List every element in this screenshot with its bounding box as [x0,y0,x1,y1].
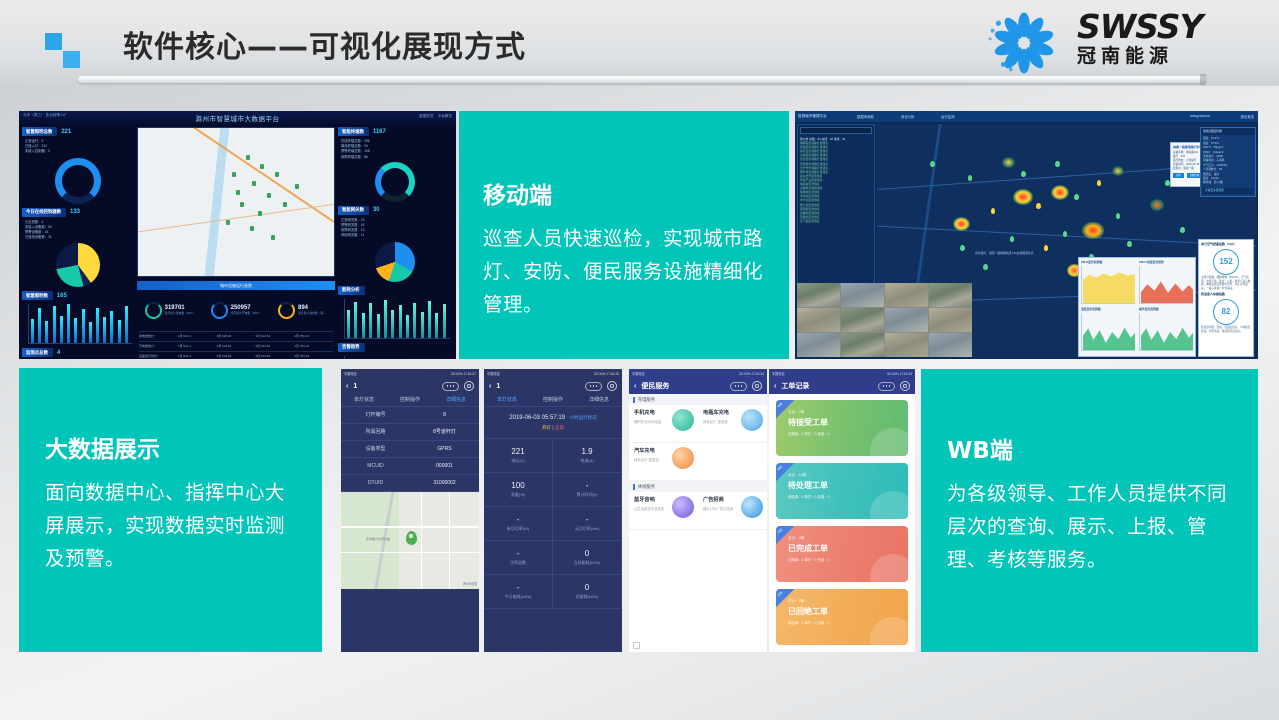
card-lines: 正常网关数：23 预警网关数：43 故障网关数：13 停用网关数：11 [341,218,452,239]
card-subtitle: 总计：3单 [788,410,908,415]
comfort-title: 舒适度人体感指数 [1201,292,1251,296]
card-subtitle: 总计：10单 [788,473,908,478]
card-corner-tag: 待处 [776,465,783,472]
dashboard-card: 智能终端数 1167 在线终端总数：256 离线终端总数：94 预警终端总数：1… [338,127,452,202]
dashboard-card: 告警趋势 [338,343,452,359]
header-accent-square-top [45,33,62,50]
state-divider: | [552,425,553,430]
service-item[interactable]: 蓝牙音响 让生活更加丰富多彩 [629,492,698,530]
card-line: 未接入控制器：2 [25,149,134,154]
tab-details[interactable]: 详细信息 [576,394,622,406]
card-value: 165 [57,293,67,299]
card-subtitle: 总计：3单 [788,536,908,541]
card-label: 智能网关数 [338,206,369,215]
service-item[interactable]: 汽车充电 绿色出行 更省钱 [629,443,698,481]
tab-lamp-status[interactable]: 单灯状态 [484,394,530,406]
service-grid-leisure: 蓝牙音响 让生活更加丰富多彩 广告招商 路灯LED广告位招商 [629,492,767,530]
metric-cell: - 累计时间(h) [553,473,622,507]
gis-nav-item[interactable]: 综合分析 [901,114,915,119]
ebike-charge-icon [741,409,763,431]
camera-thumbnail[interactable] [929,333,972,357]
work-order-card-pending-accept[interactable]: 待接 总计：3单 待接受工单 过期单：0 单打：0 进度：0 [776,400,908,456]
card-label: 智慧照明总数 [22,127,57,136]
dashboard-left-column: 智慧照明总数 221 正常运行：9 已接入灯：212 未接入控制器：2 今日在线… [22,127,134,357]
gis-logout[interactable]: 退出登录 [1240,114,1254,119]
gis-user[interactable]: wangxiaohua [1190,114,1210,118]
page-header: 软件核心——可视化展现方式 SWSSY [0,0,1279,86]
phone-title: 1 [353,383,357,390]
dashboard-card: 能耗分析 [338,286,452,339]
dashboard-hud: 数据总览 平台概览 [419,114,452,119]
panel-mobile: 移动端 巡查人员快速巡检，实现城市路灯、安防、便民服务设施精细化管理。 [459,111,789,359]
stat-caption: 当月累计减排量（吨） [298,311,326,315]
carrier-label: 中国电信 [772,371,785,376]
service-item[interactable]: 手机充电 随时补充手机电量 [629,405,698,443]
card-lines: 已点亮数：4 未接入设备数：54 预警设备数：44 已接线设备数：31 [25,220,134,241]
phone-navbar: ‹ 1 [341,378,479,394]
card-title: 待处理工单 [788,480,908,491]
panel-mobile-body: 巡查人员快速巡检，实现城市路灯、安防、便民服务设施精细化管理。 [483,222,765,321]
phone-title: 便民服务 [641,381,669,391]
work-order-card-rejected[interactable]: 已拒 总计：3单 已回绝工单 待结单：0 单打：0 延期：0 [776,589,908,645]
phone-title: 1 [496,383,500,390]
hud-left-label[interactable]: 数据总览 [419,114,433,118]
phone-tabs: 单灯状态 控制操作 详细信息 [341,394,479,407]
card-lines: 正常运行：9 已接入灯：212 未接入控制器：2 [25,139,134,155]
area-chart [344,356,450,359]
ring-icon [211,302,228,319]
bigdata-dashboard-screenshot[interactable]: 滁州市智慧城市大数据平台 今天（周三） 多云转晴 14° 数据总览 平台概览 智… [19,111,456,359]
bar-chart [344,299,450,339]
gis-nav-item[interactable]: 数据驾驶舱 [857,114,874,119]
timestamp-action-link[interactable]: 小时运行状况 [570,415,597,420]
table-row: 用电量统计： 1月 612.3 2月 523.44 3月 612.62 4月 7… [139,331,333,341]
camera-thumbnail[interactable] [841,333,884,357]
card-label: 智慧照明数 [22,291,53,300]
more-menu-icon[interactable] [878,382,895,391]
camera-thumbnail[interactable] [841,308,884,332]
bar-chart [28,304,132,344]
phone-status-bar: 中国电信 5G 54% 17:54:34 [629,369,767,378]
card-corner-tag: 已拒 [776,591,783,598]
panel-web: WB端 为各级领导、工作人员提供不同层次的查询、展示、上报、管理、考核等服务。 [921,369,1258,652]
card-lines: 在线终端总数：256 离线终端总数：94 预警终端总数：108 故障终端总数：8… [341,139,452,160]
back-icon[interactable]: ‹ [489,383,491,390]
card-label: 监测点总数 [22,348,53,357]
tab-control[interactable]: 控制操作 [387,394,433,406]
work-order-list: 待接 总计：3单 待接受工单 过期单：0 单打：0 进度：0 待处 总计：10单… [769,394,915,651]
camera-thumbnail[interactable] [885,333,928,357]
metric-cell: 0 总能耗(kWh) [553,575,622,609]
home-indicator-icon [633,642,640,649]
camera-thumbnail-grid[interactable] [797,283,972,357]
dashboard-right-column: 智能终端数 1167 在线终端总数：256 离线终端总数：94 预警终端总数：1… [338,127,452,357]
section-header-leisure: 休闲服务 [629,481,767,492]
gis-platform-screenshot[interactable]: 智慧城市管理平台 数据驾驶舱 综合分析 运行监测 wangxiaohua 退出登… [795,111,1258,359]
more-menu-icon[interactable] [730,382,747,391]
dashboard-weather: 今天（周三） 多云转晴 14° [23,113,66,118]
carrier-label: 中国电信 [632,371,645,376]
logo-en-text: SWSSY [1077,10,1202,44]
metric-cell: - 今日能耗(kWh) [484,575,553,609]
phone-status-bar: 中国电信 5G 54% 17:54:37 [341,369,479,378]
dashboard-center-column: 城市设施运行态势 319701 当月累计用电量（kWh） 250957 当月累计… [137,127,335,357]
table-row: 节电量统计： 1月 612.3 2月 523.44 3月 612.62 4月 7… [139,341,333,351]
chart-title: PM10变化趋势图 [1081,260,1135,264]
status-right: 5G 54% 17:54:34 [887,372,912,376]
close-circle-icon[interactable] [464,381,474,391]
service-item-empty [698,443,767,481]
chart-title: 温度变化趋势图 [1081,307,1135,311]
service-grid-charging: 手机充电 随时补充手机电量 电瓶车充电 绿色出行 更省钱 汽车充电 绿色出行 更… [629,405,767,481]
camera-thumbnail[interactable] [797,283,840,307]
camera-thumbnail[interactable] [929,308,972,332]
card-value: 4 [57,350,60,356]
logo-cn-text: 冠南能源 [1077,44,1202,68]
more-menu-icon[interactable] [442,382,459,391]
stat-item: 894 当月累计减排量（吨） [269,293,335,327]
table-row: 所属回路 8号道杆灯 [341,424,479,441]
aqi-gauge: 152 [1213,249,1239,275]
card-value: 1167 [373,129,386,135]
gis-navbar: 智慧城市管理平台 数据驾驶舱 综合分析 运行监测 wangxiaohua 退出登… [795,111,1258,122]
status-right: 5G 54% 17:54:34 [739,372,764,376]
camera-thumbnail[interactable] [885,283,928,307]
carrier-label: 中国电信 [487,371,500,376]
dashboard-stat-row: 319701 当月累计用电量（kWh） 250957 当月累计节电量（kWh） … [137,293,335,327]
aqi-title: 单日空气质量指数（AQI） [1201,242,1251,246]
donut-chart [375,162,415,202]
gis-chart-panel: PM10变化趋势图 温度变化趋势图 PM2.5浓度变化趋势 噪声变化趋势图 [1078,257,1196,357]
service-item[interactable]: 广告招商 路灯LED广告位招商 [698,492,767,530]
table-row: 设备类型 GPRS [341,441,479,458]
phone-tabs: 单灯状态 控制操作 详细信息 [484,394,622,407]
lamp-state-row: 开灯 | 正常 [484,425,622,439]
table-row: 灯杆编号 8 [341,407,479,424]
tab-control[interactable]: 控制操作 [530,394,576,406]
camera-thumbnail[interactable] [797,308,840,332]
legend-more-button[interactable]: 查看更多监测项 [1203,188,1253,194]
camera-thumbnail[interactable] [841,283,884,307]
phone-title: 工单记录 [781,381,809,391]
map-street-label: 庆丰路与市府北路 [366,537,390,541]
phone-screenshot-detail[interactable]: 中国电信 5G 54% 17:54:37 ‹ 1 单灯状态 控制操作 详细信息 … [341,369,479,652]
metric-cell: 0 当前能耗(kWh) [553,541,622,575]
phone-status-bar: 中国电信 5G 54% 17:54:34 [769,369,915,378]
card-corner-tag: 待接 [776,402,783,409]
gis-layer-legend[interactable]: 监测点图层控制 温度：21.2℃ 湿度：57.6% PM2.5：58μg/m³ … [1200,127,1256,197]
map-strip-label: 城市设施运行态势 [137,281,335,290]
back-icon[interactable]: ‹ [634,383,636,390]
section-header-charging: 充电服务 [629,394,767,405]
phone-location-map[interactable]: 庆丰路与市府北路 腾讯地图 [341,492,479,589]
dashboard-stat-table: 用电量统计： 1月 612.3 2月 523.44 3月 612.62 4月 7… [139,331,333,359]
card-label: 智能终端数 [338,127,369,136]
reading-timestamp-row: 2019-06-03 05:57:19 小时运行状况 [484,407,622,425]
dashboard-card: 智能网关数 30 正常网关数：23 预警网关数：43 故障网关数：13 停用网关… [338,206,452,282]
service-item[interactable]: 电瓶车充电 绿色出行 更省钱 [698,405,767,443]
cams-caption: 实时监控：城南一路摄像机组 162台视频监控点 [975,251,1034,255]
aqi-card: 单日空气质量指数（AQI） 152 主要污染物：细颗粒物（PM2.5）。空气质量… [1198,239,1254,357]
donut-chart [55,158,101,204]
phone-screenshot-status[interactable]: 中国电信 5G 54% 17:54:36 ‹ 1 单灯状态 控制操作 详细信息 … [484,369,622,652]
card-value: 221 [61,129,71,135]
gis-tree: 滁州市 总数：84 在线：48 离线：36 琅琊区智慧路灯监测点 南谯区智慧路灯… [798,136,874,224]
close-circle-icon[interactable] [607,381,617,391]
carrier-label: 中国电信 [344,371,357,376]
ring-icon [145,302,162,319]
card-label: 能耗分析 [338,286,365,295]
stat-item: 319701 当月累计用电量（kWh） [137,293,203,327]
map-watermark: 腾讯地图 [463,582,477,587]
panel-bigdata: 大数据展示 面向数据中心、指挥中心大屏展示，实现数据实时监测及预警。 [19,368,322,652]
weather-text: 今天（周三） 多云转晴 14° [23,113,66,117]
phone-navbar: ‹ 工单记录 [769,378,915,394]
metric-grid: 221 电压(V) 1.9 电流(A) 100 亮度(%) - 累计时间(h) … [484,439,622,609]
card-title: 已回绝工单 [788,606,908,617]
card-label: 今日在线控制器数 [22,208,66,217]
card-corner-tag: 已完 [776,528,783,535]
legend-item: 紫外线：弱 (1级) [1203,181,1253,185]
camera-thumbnail[interactable] [929,283,972,307]
more-menu-icon[interactable] [585,382,602,391]
metric-cell: - 无功功率(Var) [553,507,622,541]
state-status-label: 正常 [555,425,564,430]
chart-plot [1081,313,1135,351]
phone-charge-icon [672,409,694,431]
logo-text: SWSSY 冠南能源 [1077,10,1202,68]
ad-board-icon [741,496,763,518]
phone-navbar: ‹ 1 [484,378,622,394]
comfort-gauge: 82 [1213,299,1239,325]
dashboard-title: 滁州市智慧城市大数据平台 [19,113,456,123]
panel-web-body: 为各级领导、工作人员提供不同层次的查询、展示、上报、管理、考核等服务。 [947,477,1236,576]
chart-title: 噪声变化趋势图 [1139,307,1193,311]
card-label: 告警趋势 [338,343,365,352]
table-row: DTUID 31000002 [341,475,479,492]
reading-timestamp: 2019-06-03 05:57:19 [509,415,565,421]
popup-detail-button[interactable]: 详情 [1173,173,1184,178]
dashboard-card: 今日在线控制器数 133 已点亮数：4 未接入设备数：54 预警设备数：44 已… [22,208,134,288]
status-right: 5G 54% 17:54:36 [594,372,619,376]
close-circle-icon[interactable] [900,381,910,391]
stat-item: 250957 当月累计节电量（kWh） [203,293,269,327]
card-value: 30 [373,207,380,213]
hud-right-label[interactable]: 平台概览 [438,114,452,118]
stat-caption: 当月累计用电量（kWh） [165,311,196,315]
card-title: 待接受工单 [788,417,908,428]
phone-screenshot-workorders[interactable]: 中国电信 5G 54% 17:54:34 ‹ 工单记录 待接 总计：3单 待接受… [769,369,915,652]
state-on-label: 开灯 [542,425,551,430]
tab-details[interactable]: 详细信息 [433,394,479,406]
card-value: 133 [70,209,80,215]
metric-cell: 1.9 电流(A) [553,439,622,473]
stat-caption: 当月累计节电量（kWh） [231,311,262,315]
gis-nav-item[interactable]: 运行监测 [941,114,955,119]
company-logo: SWSSY 冠南能源 [981,8,1221,78]
comfort-description: 舒适度等级：舒适。温湿度适宜，人体感觉舒适，室外活动，体感舒适度良好。 [1201,326,1251,333]
close-circle-icon[interactable] [752,381,762,391]
panel-bigdata-title: 大数据展示 [45,430,300,464]
detail-rows: 灯杆编号 8 所属回路 8号道杆灯 设备类型 GPRS MCUID 000001… [341,407,479,492]
work-order-card-completed[interactable]: 已完 总计：3单 已完成工单 过期单：0 单打：0 完成：0 [776,526,908,582]
chart-plot [1081,266,1135,304]
card-subtitle: 总计：3单 [788,599,908,604]
dashboard-card: 智慧照明数 165 [22,291,134,344]
dashboard-card: 智慧照明总数 221 正常运行：9 已接入灯：212 未接入控制器：2 [22,127,134,204]
metric-cell: 100 亮度(%) [484,473,553,507]
camera-thumbnail[interactable] [885,308,928,332]
phone-navbar: ‹ 便民服务 [629,378,767,394]
gis-brand: 智慧城市管理平台 [798,114,827,119]
legend-title: 监测点图层控制 [1201,128,1255,135]
phone-status-bar: 中国电信 5G 54% 17:54:36 [484,369,622,378]
bluetooth-speaker-icon [672,496,694,518]
city-map[interactable] [137,127,335,277]
chart-plot [1139,266,1193,304]
camera-thumbnail[interactable] [797,333,840,357]
map-pin-icon [406,531,417,545]
panel-mobile-title: 移动端 [483,176,765,210]
water-drop-logo-icon [981,10,1067,76]
page-title: 软件核心——可视化展现方式 [123,22,526,66]
table-row: MCUID 000001 [341,458,479,475]
back-icon[interactable]: ‹ [346,383,348,390]
gis-search-input[interactable] [800,127,872,134]
panel-bigdata-body: 面向数据中心、指挥中心大屏展示，实现数据实时监测及预警。 [45,476,300,575]
tree-item[interactable]: 东门社区监测点 [800,219,872,223]
metric-cell: - 有功功率(W) [484,507,553,541]
status-right: 5G 54% 17:54:37 [451,372,476,376]
card-line: 已接线设备数：31 [25,235,134,240]
panel-web-title: WB端 [947,431,1236,465]
dashboard-card: 监测点总数 4 [22,348,134,359]
card-title: 已完成工单 [788,543,908,554]
pie-chart [375,242,415,282]
back-icon[interactable]: ‹ [774,383,776,390]
metric-cell: - 功率因数 [484,541,553,575]
chart-title: PM2.5浓度变化趋势 [1139,260,1193,264]
aqi-description: 主要污染物：细颗粒物（PM2.5）。空气质量：中度污染。建议：儿童、老年人及心脏… [1201,276,1251,290]
gis-chart: PM10变化趋势图 温度变化趋势图 [1079,258,1137,356]
gis-chart: PM2.5浓度变化趋势 噪声变化趋势图 [1137,258,1195,356]
pie-chart [56,243,100,287]
chart-plot [1139,313,1193,351]
tab-lamp-status[interactable]: 单灯状态 [341,394,387,406]
table-row: 设备运行时长： 1月 612.3 2月 523.44 3月 612.62 4月 … [139,351,333,359]
work-order-card-pending-process[interactable]: 待处 总计：10单 待处理工单 待结单：0 单打：0 延期：0 [776,463,908,519]
metric-cell: 221 电压(V) [484,439,553,473]
header-accent-square-bottom [63,51,80,68]
ring-icon [278,302,295,319]
car-charge-icon [672,447,694,469]
phone-screenshot-services[interactable]: 中国电信 5G 54% 17:54:34 ‹ 便民服务 充电服务 手机充电 随时… [629,369,767,652]
